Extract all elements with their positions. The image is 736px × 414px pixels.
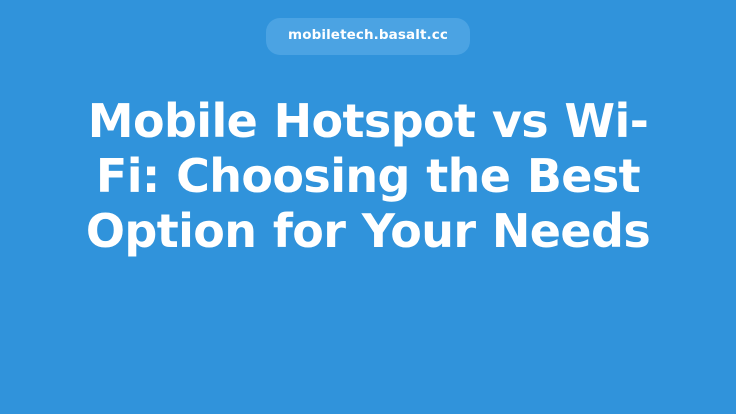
site-domain-badge[interactable]: mobiletech.basalt.cc bbox=[266, 18, 470, 55]
title-block: Mobile Hotspot vs Wi-Fi: Choosing the Be… bbox=[0, 94, 736, 259]
hero-card: mobiletech.basalt.cc Mobile Hotspot vs W… bbox=[0, 0, 736, 414]
page-title: Mobile Hotspot vs Wi-Fi: Choosing the Be… bbox=[78, 94, 658, 259]
badge-row: mobiletech.basalt.cc bbox=[0, 18, 736, 55]
